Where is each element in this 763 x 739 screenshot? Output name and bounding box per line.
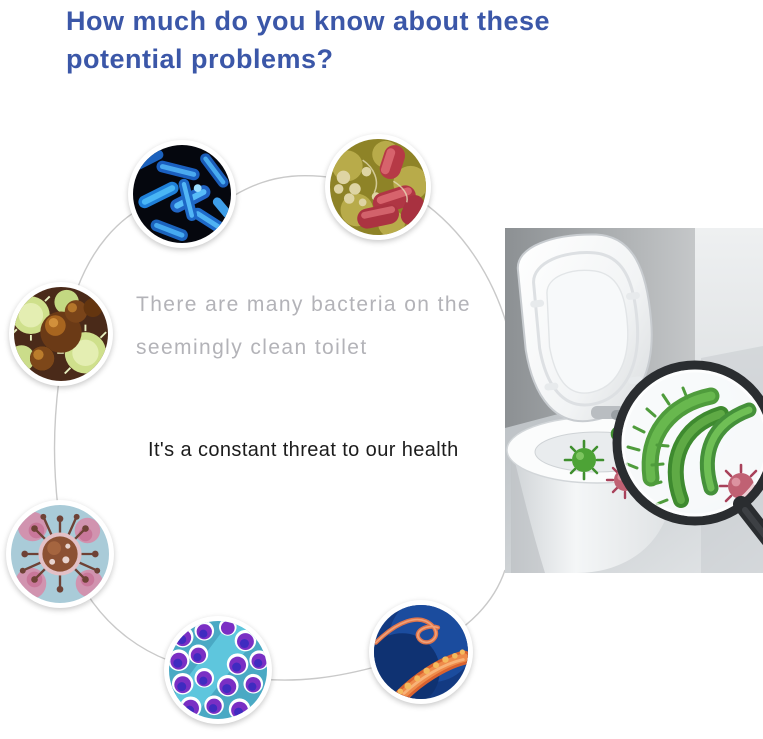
- bacteria-circle-orange-filament: [369, 600, 473, 704]
- purple-cocci-icon: [169, 621, 267, 719]
- bacteria-circle-brown-green-microbes: [9, 282, 113, 386]
- toilet-with-germs-photo: [505, 228, 763, 573]
- bacteria-circle-blue-rod-bacteria: [128, 140, 236, 248]
- spiked-virus-icon: [11, 505, 109, 603]
- red-bacilli-icon: [330, 139, 426, 235]
- orange-filament-icon: [374, 605, 468, 699]
- bacteria-circle-red-bacilli: [325, 134, 431, 240]
- bacteria-circle-spiked-virus: [6, 500, 114, 608]
- subtitle-dark: It's a constant threat to our health: [148, 428, 478, 472]
- poster-root: How much do you know about these potenti…: [0, 0, 763, 739]
- brown-green-microbes-icon: [14, 287, 108, 381]
- subtitle-grey: There are many bacteria on the seemingly…: [136, 283, 496, 369]
- bacteria-circle-purple-cocci: [164, 616, 272, 724]
- blue-rod-bacteria-icon: [133, 145, 231, 243]
